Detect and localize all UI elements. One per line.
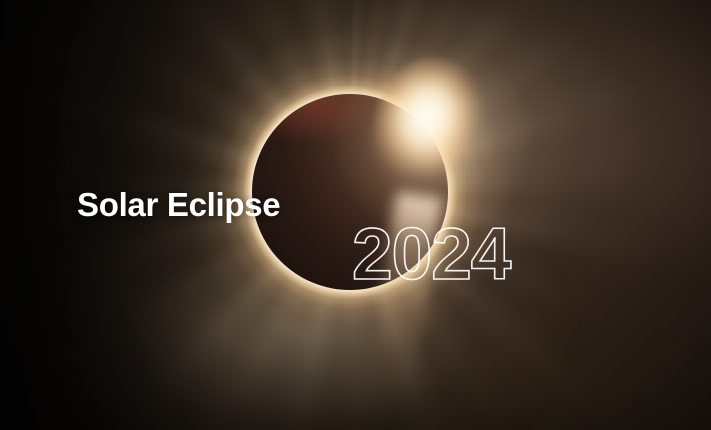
page-title: Solar Eclipse [77, 186, 280, 225]
year-outline-text: 2024 [352, 218, 510, 291]
eclipse-banner: Solar Eclipse 2024 [0, 0, 711, 430]
